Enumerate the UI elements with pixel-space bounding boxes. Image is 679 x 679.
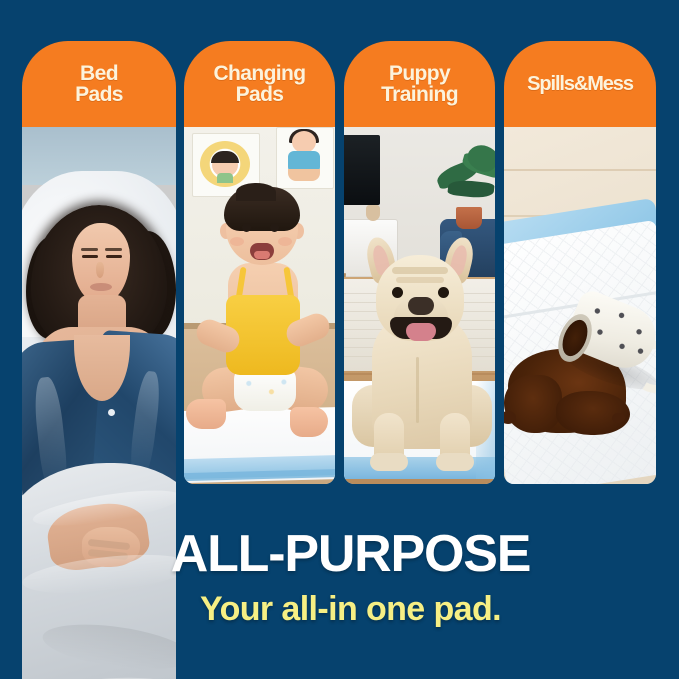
baby-cheek-left: [230, 237, 244, 246]
category-label-spills-and-mess: Spills&Mess: [527, 74, 633, 94]
category-label-banner-puppy-training: Puppy Training: [344, 41, 495, 127]
category-label-bed-pads: Bed Pads: [75, 63, 123, 106]
headline-main: ALL-PURPOSE: [0, 528, 679, 580]
category-photo-puppy-training: [344, 127, 495, 484]
dog-paw-right: [436, 453, 474, 471]
baby-eye-right: [270, 223, 279, 232]
baby-foot-right: [290, 407, 328, 437]
category-label-puppy-training: Puppy Training: [381, 63, 458, 106]
category-photo-spills-and-mess: [504, 127, 656, 484]
category-card-spills-and-mess[interactable]: Spills&Mess: [504, 41, 656, 484]
dog-nose: [408, 297, 434, 315]
poster2-character-face: [292, 131, 316, 153]
product-feature-graphic: Bed Pads: [0, 0, 679, 679]
category-photo-changing-pads: [184, 127, 335, 484]
diaper-pattern: [238, 375, 292, 403]
category-label-banner-changing-pads: Changing Pads: [184, 41, 335, 127]
eyebrow-right: [105, 248, 122, 251]
baby-cheek-right: [278, 237, 292, 246]
baby-foot-left: [186, 399, 226, 429]
eyebrow-left: [81, 248, 98, 251]
pajama-button: [108, 409, 115, 416]
lips: [90, 283, 112, 291]
poster-character-body: [217, 173, 233, 183]
poster2-character-legs: [288, 169, 320, 181]
floor-plank-seam-one: [504, 169, 656, 171]
dog-forehead-wrinkle-one: [392, 267, 448, 274]
coffee-droplet-two: [612, 413, 625, 423]
category-label-banner-bed-pads: Bed Pads: [22, 41, 176, 127]
headline-block: ALL-PURPOSE Your all-in one pad.: [0, 528, 679, 626]
dog-paw-left: [370, 453, 408, 471]
headline-sub: Your all-in one pad.: [0, 592, 679, 626]
decor-vase: [366, 205, 380, 221]
dog-eye-right: [438, 287, 449, 298]
closed-eye-left: [82, 255, 98, 258]
dog-forehead-wrinkle-two: [396, 277, 444, 283]
category-label-banner-spills-and-mess: Spills&Mess: [504, 41, 656, 127]
baby-tongue: [254, 251, 270, 259]
television: [344, 135, 380, 205]
category-card-puppy-training[interactable]: Puppy Training: [344, 41, 495, 484]
nose: [96, 262, 104, 278]
dog-eye-left: [392, 287, 403, 298]
category-label-changing-pads: Changing Pads: [213, 63, 305, 106]
coffee-spill-lobe-left: [504, 375, 562, 433]
baby-eye-left: [242, 223, 251, 232]
plant-pot: [456, 207, 482, 229]
dog-chest-line: [416, 357, 419, 423]
baby-hair-tuft: [236, 183, 276, 201]
category-card-changing-pads[interactable]: Changing Pads: [184, 41, 335, 484]
dog-tongue: [406, 323, 436, 341]
closed-eye-right: [106, 255, 122, 258]
